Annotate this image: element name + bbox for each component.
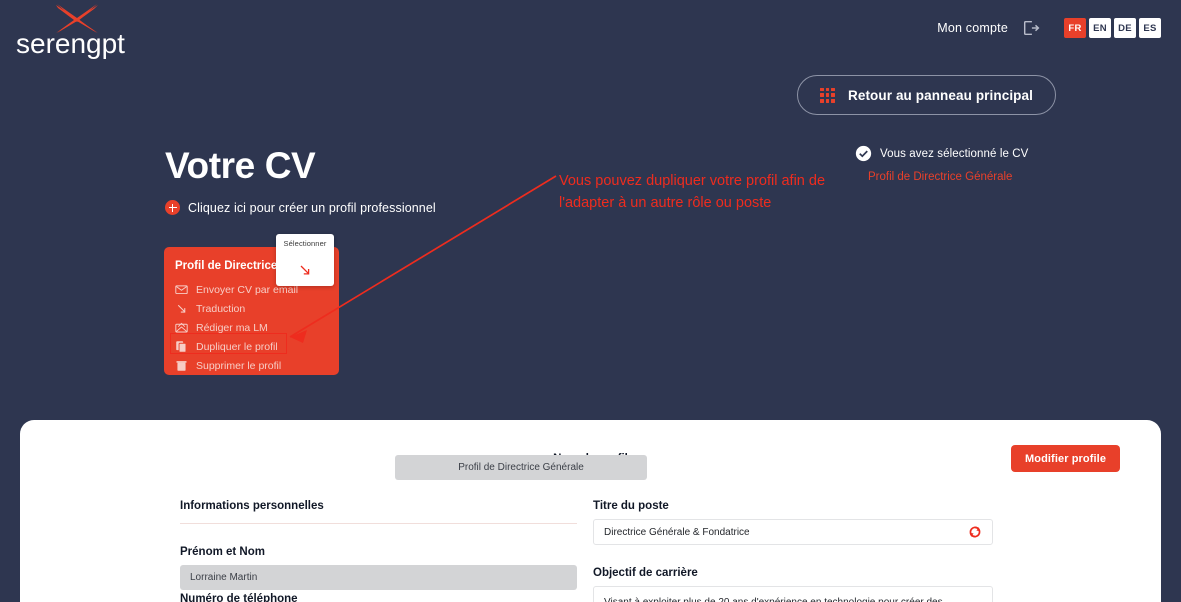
lang-button-fr[interactable]: FR: [1064, 18, 1086, 38]
career-objective-label: Objectif de carrière: [593, 567, 993, 579]
card-action-label: Traduction: [196, 303, 245, 315]
check-circle-icon: [855, 145, 872, 162]
card-action-translation[interactable]: Traduction: [175, 299, 339, 318]
profile-name-input[interactable]: Profil de Directrice Générale: [395, 455, 647, 480]
topbar-actions: Mon compte FR EN DE ES: [937, 18, 1161, 38]
edit-profile-button[interactable]: Modifier profile: [1011, 445, 1120, 472]
card-action-label: Rédiger ma LM: [196, 322, 268, 334]
back-to-main-panel-label: Retour au panneau principal: [848, 88, 1033, 103]
logout-icon[interactable]: [1022, 19, 1040, 37]
job-title-input[interactable]: Directrice Générale & Fondatrice: [593, 519, 993, 545]
card-action-label: Supprimer le profil: [196, 360, 281, 372]
envelope-icon: [175, 283, 188, 296]
language-switcher: FR EN DE ES: [1064, 18, 1161, 38]
back-to-main-panel-button[interactable]: Retour au panneau principal: [797, 75, 1056, 115]
app-logo[interactable]: serengpt: [16, 4, 136, 56]
career-objective-textarea[interactable]: Visant à exploiter plus de 20 ans d'expé…: [593, 586, 993, 602]
select-tooltip-label: Sélectionner: [276, 239, 334, 248]
job-title-label: Titre du poste: [593, 500, 993, 512]
annotation-text: Vous pouvez dupliquer votre profil afin …: [559, 170, 834, 214]
personal-info-column: Informations personnelles Prénom et Nom …: [180, 500, 577, 590]
refresh-icon[interactable]: [968, 525, 982, 539]
annotation-highlight-box: [170, 333, 287, 354]
grid-icon: [820, 88, 835, 103]
plus-circle-icon: [165, 200, 180, 215]
first-last-name-label: Prénom et Nom: [180, 546, 577, 558]
lang-button-en[interactable]: EN: [1089, 18, 1111, 38]
selected-cv-label: Vous avez sélectionné le CV: [880, 148, 1028, 160]
select-tooltip[interactable]: Sélectionner: [276, 234, 334, 286]
job-title-value: Directrice Générale & Fondatrice: [604, 527, 750, 538]
lang-button-de[interactable]: DE: [1114, 18, 1136, 38]
selected-cv-name[interactable]: Profil de Directrice Générale: [855, 171, 1155, 183]
lang-button-es[interactable]: ES: [1139, 18, 1161, 38]
account-link[interactable]: Mon compte: [937, 21, 1008, 35]
job-info-column: Titre du poste Directrice Générale & Fon…: [593, 500, 993, 602]
create-profile-link[interactable]: Cliquez ici pour créer un profil profess…: [165, 200, 436, 215]
phone-number-label: Numéro de téléphone: [180, 593, 298, 602]
create-profile-label: Cliquez ici pour créer un profil profess…: [188, 201, 436, 215]
logo-wordmark: serengpt: [16, 28, 125, 60]
trash-icon: [175, 359, 188, 372]
first-last-name-input[interactable]: Lorraine Martin: [180, 565, 577, 590]
arrow-down-right-icon: [297, 262, 313, 278]
personal-info-heading: Informations personnelles: [180, 500, 577, 524]
page-title: Votre CV: [165, 145, 315, 187]
arrow-down-right-icon: [175, 302, 188, 315]
selected-cv-status: Vous avez sélectionné le CV Profil de Di…: [855, 145, 1155, 183]
card-action-delete-profile[interactable]: Supprimer le profil: [175, 356, 339, 375]
